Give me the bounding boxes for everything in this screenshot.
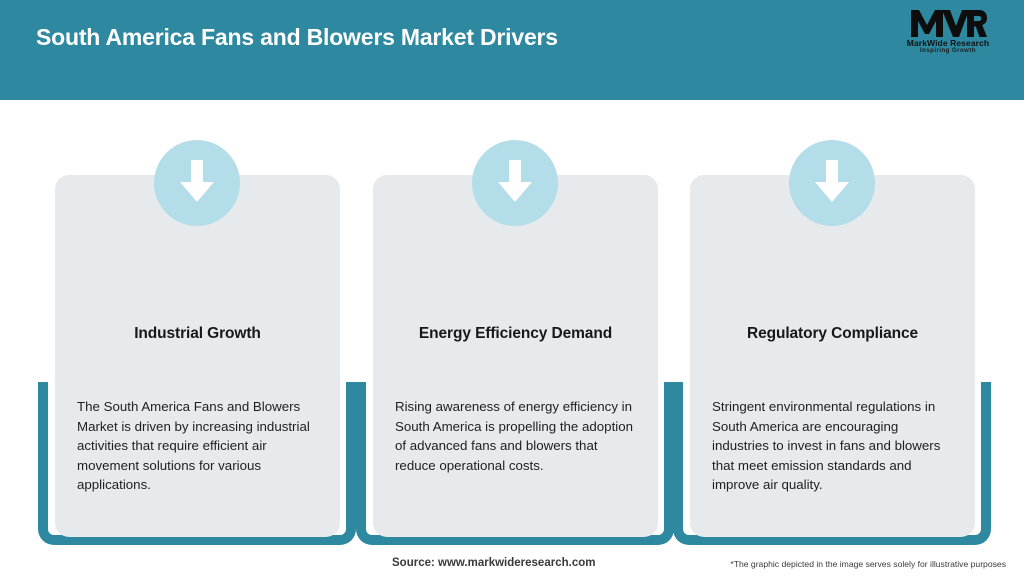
driver-card-3[interactable]: Regulatory Compliance Stringent environm… xyxy=(673,100,991,540)
header-bar: South America Fans and Blowers Market Dr… xyxy=(0,0,1024,100)
card-icon-badge xyxy=(472,140,558,226)
card-title: Regulatory Compliance xyxy=(702,325,963,343)
card-panel: Energy Efficiency Demand Rising awarenes… xyxy=(373,175,658,537)
arrow-down-icon xyxy=(495,156,535,211)
slide: South America Fans and Blowers Market Dr… xyxy=(0,0,1024,576)
page-title: South America Fans and Blowers Market Dr… xyxy=(36,24,558,51)
arrow-down-icon xyxy=(177,156,217,211)
card-body-text: The South America Fans and Blowers Marke… xyxy=(77,397,322,495)
logo-company-name: MarkWide Research xyxy=(890,39,1006,48)
driver-card-1[interactable]: Industrial Growth The South America Fans… xyxy=(38,100,356,540)
brand-logo: MarkWide Research Inspiring Growth xyxy=(890,8,1006,62)
card-icon-badge xyxy=(154,140,240,226)
drivers-card-row: Industrial Growth The South America Fans… xyxy=(0,100,1024,540)
card-body-text: Stringent environmental regulations in S… xyxy=(712,397,957,495)
logo-tagline: Inspiring Growth xyxy=(890,48,1006,55)
card-panel: Regulatory Compliance Stringent environm… xyxy=(690,175,975,537)
arrow-down-icon xyxy=(812,156,852,211)
card-body-text: Rising awareness of energy efficiency in… xyxy=(395,397,640,475)
card-icon-badge xyxy=(789,140,875,226)
disclaimer-label: *The graphic depicted in the image serve… xyxy=(730,559,1006,569)
card-panel: Industrial Growth The South America Fans… xyxy=(55,175,340,537)
source-label: Source: www.markwideresearch.com xyxy=(392,557,595,569)
driver-card-2[interactable]: Energy Efficiency Demand Rising awarenes… xyxy=(356,100,674,540)
card-title: Energy Efficiency Demand xyxy=(385,325,646,343)
mwr-monogram-icon xyxy=(890,8,1006,38)
card-title: Industrial Growth xyxy=(67,325,328,343)
